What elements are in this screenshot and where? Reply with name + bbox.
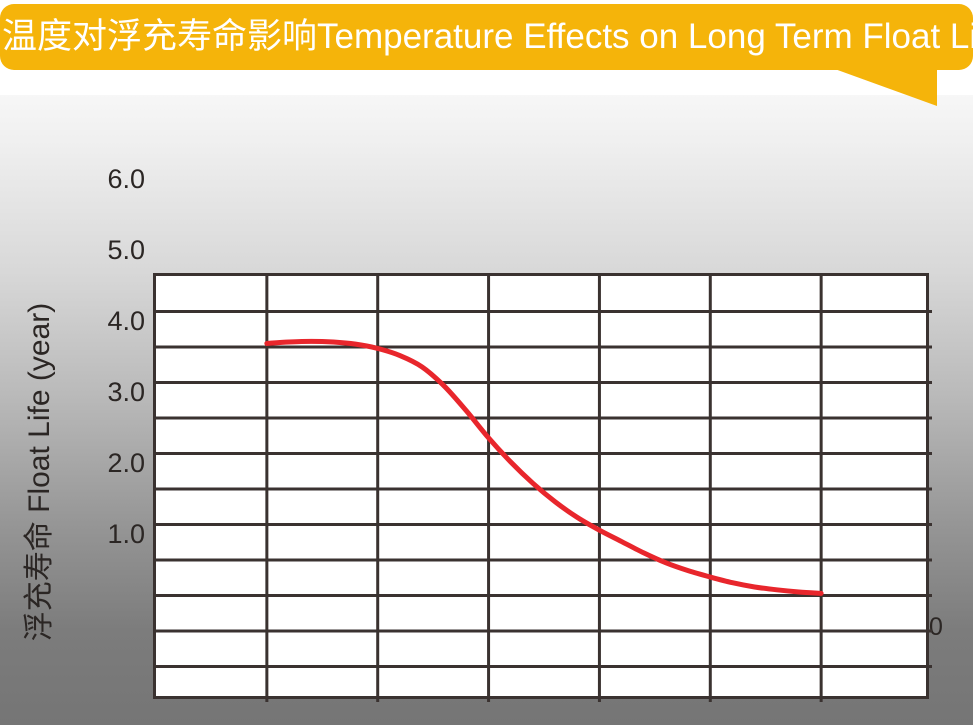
y-tick-label: 5.0 xyxy=(107,237,145,264)
y-axis-tick-labels: 6.0 5.0 4.0 3.0 2.0 1.0 xyxy=(95,95,145,725)
title-banner: 温度对浮充寿命影响Temperature Effects on Long Ter… xyxy=(0,4,973,70)
y-tick-label: 2.0 xyxy=(107,450,145,477)
y-axis-title: 浮充寿命 Float Life (year) xyxy=(23,237,57,707)
grid-lines xyxy=(156,276,932,702)
y-tick-label: 1.0 xyxy=(107,521,145,548)
y-tick-label: 6.0 xyxy=(107,166,145,193)
plot-area xyxy=(153,273,929,699)
title-bubble-tail xyxy=(832,68,937,106)
page-title: 温度对浮充寿命影响Temperature Effects on Long Ter… xyxy=(2,17,973,57)
chart-panel: 浮充寿命 Float Life (year) 6.0 5.0 4.0 3.0 2… xyxy=(0,95,973,725)
y-tick-label: 3.0 xyxy=(107,379,145,406)
y-tick-label: 4.0 xyxy=(107,308,145,335)
chart-page: 温度对浮充寿命影响Temperature Effects on Long Ter… xyxy=(0,0,973,725)
